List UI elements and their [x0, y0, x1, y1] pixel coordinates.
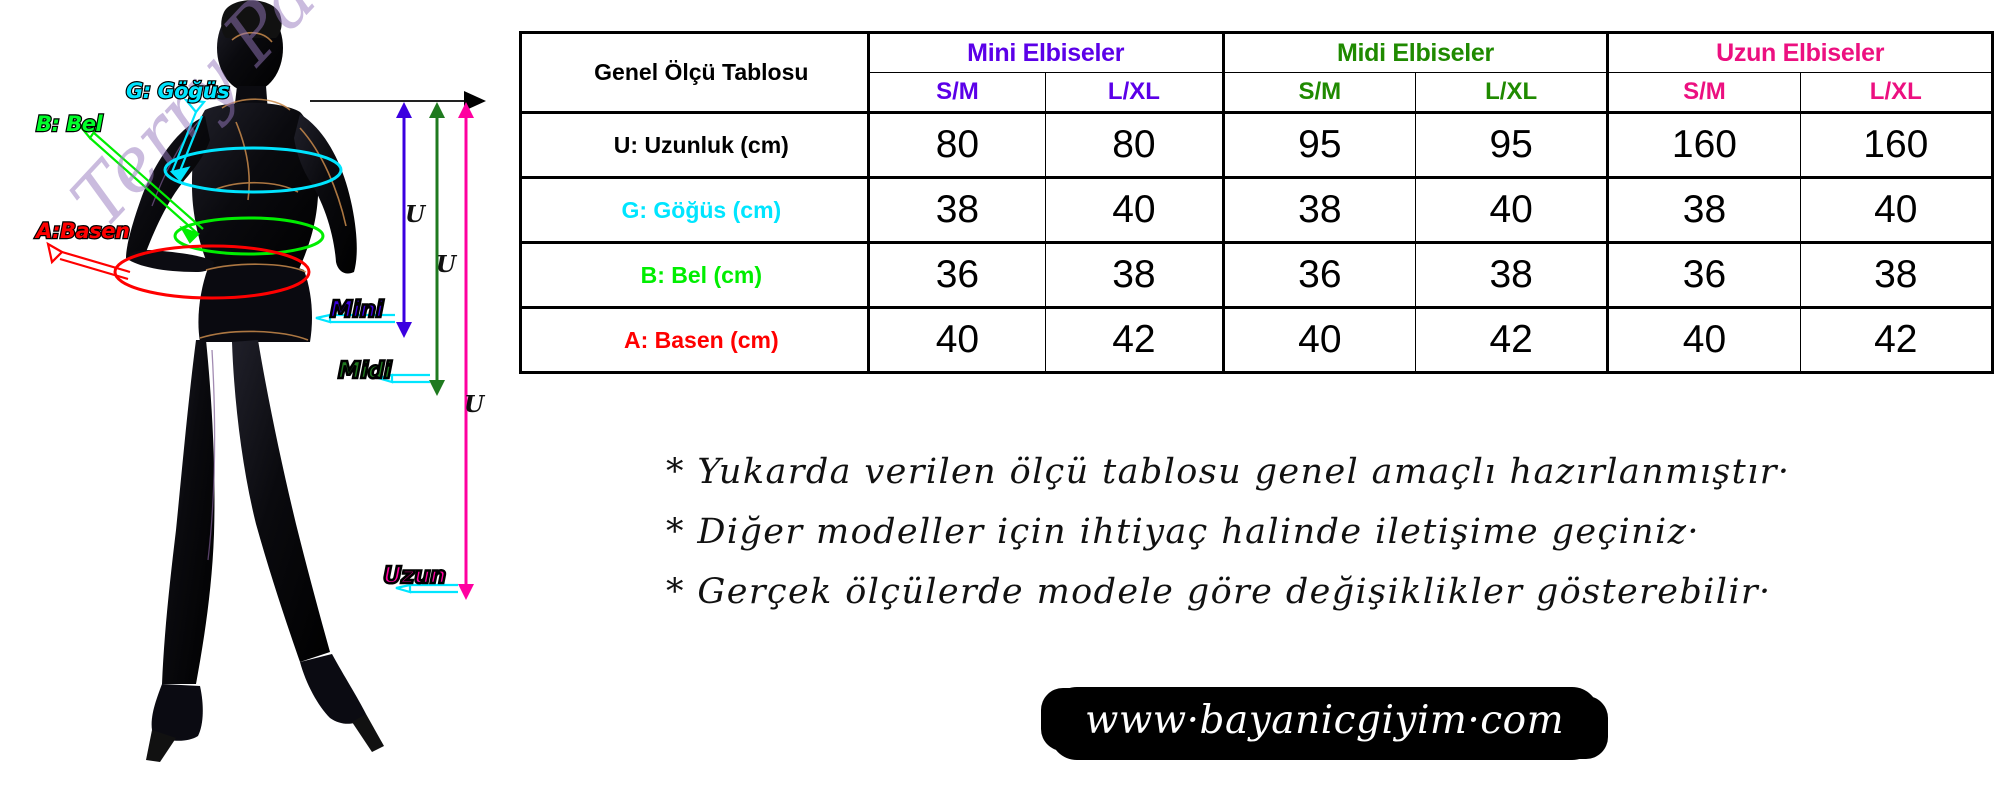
cell-basen-mini-sm: 40 — [868, 308, 1046, 373]
size-header-midi-sm: S/M — [1223, 73, 1415, 113]
basen-arrow — [48, 244, 130, 279]
cell-gogus-mini-sm: 38 — [868, 178, 1046, 243]
cell-basen-uzun-sm: 40 — [1608, 308, 1800, 373]
group-header-uzun: Uzun Elbiseler — [1608, 33, 1993, 73]
cell-uzunluk-mini-lxl: 80 — [1046, 113, 1224, 178]
note-line-2: * Diğer modeller için ihtiyaç halinde il… — [666, 515, 2006, 550]
size-table-container: Genel Ölçü Tablosu Mini Elbiseler Midi E… — [519, 31, 1994, 374]
svg-text:U: U — [464, 391, 486, 418]
cell-gogus-mini-lxl: 40 — [1046, 178, 1224, 243]
uzun-length-arrow — [458, 102, 474, 600]
uzun-length-label: Uzun — [383, 563, 446, 589]
cell-bel-midi-sm: 36 — [1223, 243, 1415, 308]
cell-basen-midi-sm: 40 — [1223, 308, 1415, 373]
size-chart-page: U U U Terry Pau G: Göğüs B: Bel A:Basen … — [0, 0, 2010, 811]
midi-length-arrow — [429, 102, 445, 396]
basen-label: A:Basen — [36, 219, 129, 243]
size-header-midi-lxl: L/XL — [1415, 73, 1607, 113]
website-url-text: www·bayanicgiyim·com — [1085, 701, 1564, 742]
cell-uzunluk-mini-sm: 80 — [868, 113, 1046, 178]
size-table: Genel Ölçü Tablosu Mini Elbiseler Midi E… — [519, 31, 1994, 374]
notes-section: * Yukarda verilen ölçü tablosu genel ama… — [666, 455, 2006, 635]
size-header-uzun-sm: S/M — [1608, 73, 1800, 113]
row-label-uzunluk: U: Uzunluk (cm) — [521, 113, 869, 178]
row-label-bel: B: Bel (cm) — [521, 243, 869, 308]
note-line-1: * Yukarda verilen ölçü tablosu genel ama… — [666, 455, 2006, 490]
cell-gogus-uzun-sm: 38 — [1608, 178, 1800, 243]
cell-basen-uzun-lxl: 42 — [1800, 308, 1992, 373]
cell-uzunluk-midi-lxl: 95 — [1415, 113, 1607, 178]
size-header-mini-lxl: L/XL — [1046, 73, 1224, 113]
table-row: B: Bel (cm) 36 38 36 38 36 38 — [521, 243, 1993, 308]
svg-text:U: U — [436, 251, 458, 278]
website-banner[interactable]: www·bayanicgiyim·com — [1055, 692, 1594, 755]
cell-bel-midi-lxl: 38 — [1415, 243, 1607, 308]
cell-uzunluk-uzun-sm: 160 — [1608, 113, 1800, 178]
model-figure-panel: U U U Terry Pau G: Göğüs B: Bel A:Basen … — [0, 0, 515, 811]
cell-bel-uzun-lxl: 38 — [1800, 243, 1992, 308]
cell-gogus-midi-lxl: 40 — [1415, 178, 1607, 243]
cell-uzunluk-uzun-lxl: 160 — [1800, 113, 1992, 178]
cell-bel-mini-sm: 36 — [868, 243, 1046, 308]
table-corner-label: Genel Ölçü Tablosu — [521, 33, 869, 113]
svg-text:U: U — [405, 201, 427, 228]
size-header-mini-sm: S/M — [868, 73, 1046, 113]
table-row: G: Göğüs (cm) 38 40 38 40 38 40 — [521, 178, 1993, 243]
u-length-markers: U U U — [405, 201, 486, 418]
bel-label: B: Bel — [36, 112, 102, 136]
row-label-gogus: G: Göğüs (cm) — [521, 178, 869, 243]
mini-length-label: Mini — [330, 297, 383, 323]
cell-basen-mini-lxl: 42 — [1046, 308, 1224, 373]
cell-bel-uzun-sm: 36 — [1608, 243, 1800, 308]
table-row: A: Basen (cm) 40 42 40 42 40 42 — [521, 308, 1993, 373]
note-line-3: * Gerçek ölçülerde modele göre değişikli… — [666, 575, 2006, 610]
cell-gogus-midi-sm: 38 — [1223, 178, 1415, 243]
gogus-label: G: Göğüs — [126, 79, 229, 103]
length-arrows — [396, 102, 474, 600]
table-header-group-row: Genel Ölçü Tablosu Mini Elbiseler Midi E… — [521, 33, 1993, 73]
group-header-midi: Midi Elbiseler — [1223, 33, 1608, 73]
cell-bel-mini-lxl: 38 — [1046, 243, 1224, 308]
midi-length-label: Midi — [338, 358, 391, 384]
group-header-mini: Mini Elbiseler — [868, 33, 1223, 73]
table-row: U: Uzunluk (cm) 80 80 95 95 160 160 — [521, 113, 1993, 178]
cell-uzunluk-midi-sm: 95 — [1223, 113, 1415, 178]
cell-gogus-uzun-lxl: 40 — [1800, 178, 1992, 243]
cell-basen-midi-lxl: 42 — [1415, 308, 1607, 373]
row-label-basen: A: Basen (cm) — [521, 308, 869, 373]
size-header-uzun-lxl: L/XL — [1800, 73, 1992, 113]
